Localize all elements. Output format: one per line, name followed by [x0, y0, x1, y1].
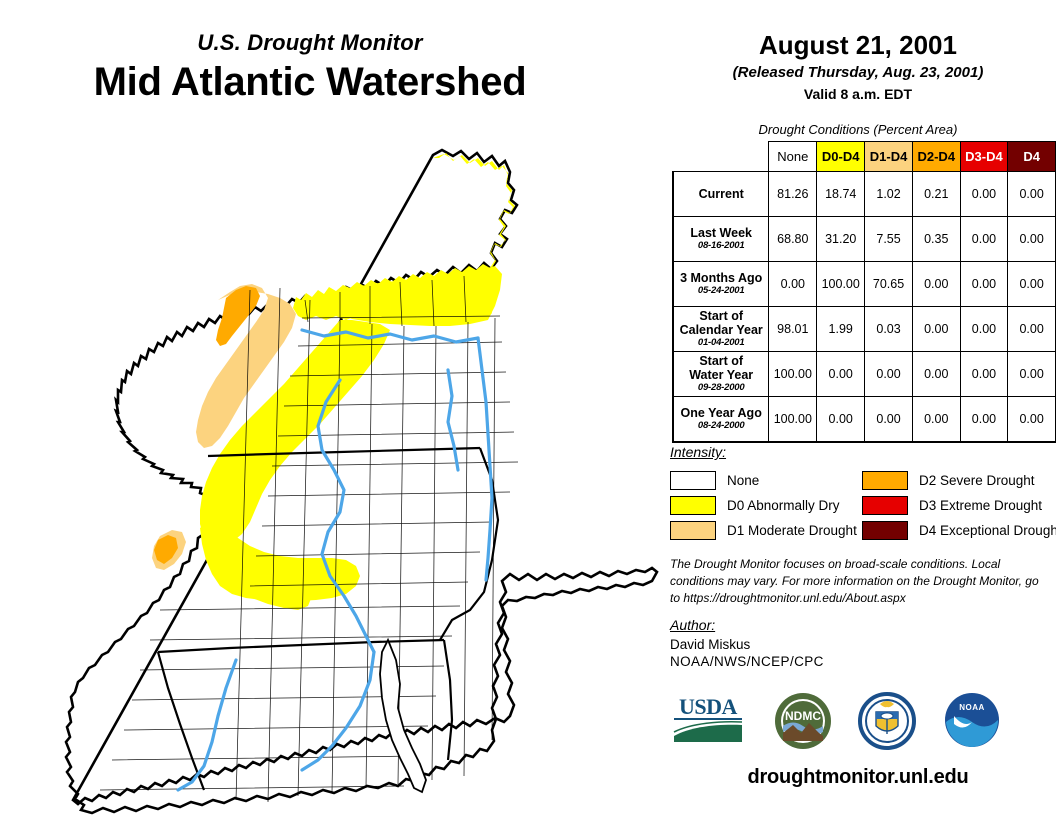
table-row: 3 Months Ago05-24-20010.00100.0070.650.0…: [673, 262, 1056, 307]
cell-d4: 0.00: [1008, 217, 1056, 262]
row-date: 08-24-2000: [675, 421, 767, 432]
legend-column-right: D2 Severe DroughtD3 Extreme DroughtD4 Ex…: [862, 468, 1042, 543]
cell-d1-d4: 70.65: [865, 262, 913, 307]
legend-item: None: [670, 468, 850, 493]
row-label: Start ofWater Year09-28-2000: [673, 352, 769, 397]
cell-d4: 0.00: [1008, 307, 1056, 352]
cell-d4: 0.00: [1008, 397, 1056, 443]
legend-swatch: [670, 496, 716, 515]
column-header-d3-d4: D3-D4: [960, 142, 1008, 172]
va-wv-border: [158, 652, 204, 790]
cell-d0-d4: 18.74: [817, 172, 865, 217]
legend-swatch: [862, 496, 908, 515]
cell-none: 68.80: [769, 217, 817, 262]
cell-none: 81.26: [769, 172, 817, 217]
legend-swatch: [670, 471, 716, 490]
row-date: 08-16-2001: [675, 241, 767, 252]
delaware-river: [448, 370, 458, 470]
cell-none: 98.01: [769, 307, 817, 352]
cell-d2-d4: 0.00: [912, 397, 960, 443]
svg-text:NOAA: NOAA: [959, 703, 985, 712]
row-label: Start ofCalendar Year01-04-2001: [673, 307, 769, 352]
cell-d3-d4: 0.00: [960, 262, 1008, 307]
cell-d3-d4: 0.00: [960, 307, 1008, 352]
report-date: August 21, 2001: [660, 30, 1056, 61]
legend-label: D0 Abnormally Dry: [727, 498, 840, 513]
legend-column-left: NoneD0 Abnormally DryD1 Moderate Drought: [670, 468, 850, 543]
author-title: Author:: [670, 617, 715, 633]
table-row: Start ofWater Year09-28-2000100.000.000.…: [673, 352, 1056, 397]
cell-d2-d4: 0.00: [912, 262, 960, 307]
cell-d0-d4: 100.00: [817, 262, 865, 307]
usdoc-logo: [858, 692, 916, 750]
legend-item: D1 Moderate Drought: [670, 518, 850, 543]
cell-d3-d4: 0.00: [960, 217, 1008, 262]
cell-d0-d4: 0.00: [817, 352, 865, 397]
row-label: One Year Ago08-24-2000: [673, 397, 769, 443]
column-header-d0-d4: D0-D4: [817, 142, 865, 172]
legend-swatch: [862, 471, 908, 490]
table-row: Start ofCalendar Year01-04-200198.011.99…: [673, 307, 1056, 352]
legend-item: D4 Exceptional Drought: [862, 518, 1042, 543]
cell-d2-d4: 0.21: [912, 172, 960, 217]
table-row: Current81.2618.741.020.210.000.00: [673, 172, 1056, 217]
table-body: NoneD0-D4D1-D4D2-D4D3-D4D4Current81.2618…: [673, 142, 1056, 443]
cell-d2-d4: 0.00: [912, 307, 960, 352]
drought-monitor-superheader: U.S. Drought Monitor: [0, 30, 620, 56]
cell-none: 100.00: [769, 397, 817, 443]
cell-d0-d4: 1.99: [817, 307, 865, 352]
usda-logo: USDA: [670, 692, 746, 748]
legend-label: D1 Moderate Drought: [727, 523, 857, 538]
cell-d1-d4: 0.00: [865, 352, 913, 397]
website-url: droughtmonitor.unl.edu: [660, 766, 1056, 789]
legend-title: Intensity:: [670, 444, 726, 460]
cell-d1-d4: 7.55: [865, 217, 913, 262]
legend-item: D3 Extreme Drought: [862, 493, 1042, 518]
table-caption: Drought Conditions (Percent Area): [660, 122, 1056, 137]
row-date: 05-24-2001: [675, 286, 767, 297]
legend-label: D3 Extreme Drought: [919, 498, 1042, 513]
table-row: One Year Ago08-24-2000100.000.000.000.00…: [673, 397, 1056, 443]
legend-swatch: [862, 521, 908, 540]
author-org: NOAA/NWS/NCEP/CPC: [670, 654, 824, 669]
release-note: (Released Thursday, Aug. 23, 2001): [660, 64, 1056, 81]
cell-d1-d4: 0.00: [865, 397, 913, 443]
logo-row: USDA NDMC NOAA: [660, 692, 1056, 754]
column-header-d1-d4: D1-D4: [865, 142, 913, 172]
row-label: 3 Months Ago05-24-2001: [673, 262, 769, 307]
cell-d2-d4: 0.35: [912, 217, 960, 262]
page-title: Mid Atlantic Watershed: [0, 60, 620, 105]
cell-d0-d4: 31.20: [817, 217, 865, 262]
cell-d1-d4: 1.02: [865, 172, 913, 217]
author-name: David Miskus: [670, 637, 750, 652]
column-header-d4: D4: [1008, 142, 1056, 172]
table-header-row: NoneD0-D4D1-D4D2-D4D3-D4D4: [673, 142, 1056, 172]
cell-d3-d4: 0.00: [960, 172, 1008, 217]
legend-item: D2 Severe Drought: [862, 468, 1042, 493]
watershed-outline: [66, 150, 657, 813]
cell-d0-d4: 0.00: [817, 397, 865, 443]
svg-text:USDA: USDA: [679, 694, 738, 719]
row-label: Last Week08-16-2001: [673, 217, 769, 262]
noaa-logo: NOAA: [944, 692, 1000, 748]
ndmc-logo: NDMC: [774, 692, 832, 750]
valid-time: Valid 8 a.m. EDT: [660, 86, 1056, 102]
cell-d3-d4: 0.00: [960, 352, 1008, 397]
map-base: [66, 150, 657, 813]
legend-swatch: [670, 521, 716, 540]
table-row: Last Week08-16-200168.8031.207.550.350.0…: [673, 217, 1056, 262]
row-label: Current: [673, 172, 769, 217]
table-corner-cell: [673, 142, 769, 172]
column-header-none: None: [769, 142, 817, 172]
legend-label: D2 Severe Drought: [919, 473, 1035, 488]
cell-d3-d4: 0.00: [960, 397, 1008, 443]
drought-conditions-table: NoneD0-D4D1-D4D2-D4D3-D4D4Current81.2618…: [672, 141, 1056, 443]
cell-d2-d4: 0.00: [912, 352, 960, 397]
pa-md-border: [158, 640, 444, 652]
svg-text:NDMC: NDMC: [785, 709, 821, 723]
cell-d4: 0.00: [1008, 172, 1056, 217]
legend-label: None: [727, 473, 759, 488]
cell-none: 100.00: [769, 352, 817, 397]
map-svg: [40, 140, 660, 816]
column-header-d2-d4: D2-D4: [912, 142, 960, 172]
cell-none: 0.00: [769, 262, 817, 307]
legend-item: D0 Abnormally Dry: [670, 493, 850, 518]
legend-label: D4 Exceptional Drought: [919, 523, 1056, 538]
drought-map: [40, 140, 660, 816]
cell-d4: 0.00: [1008, 352, 1056, 397]
susquehanna-river: [318, 380, 374, 652]
disclaimer-note: The Drought Monitor focuses on broad-sca…: [670, 556, 1042, 607]
row-date: 01-04-2001: [675, 338, 767, 349]
cell-d1-d4: 0.03: [865, 307, 913, 352]
row-date: 09-28-2000: [675, 383, 767, 394]
cell-d4: 0.00: [1008, 262, 1056, 307]
